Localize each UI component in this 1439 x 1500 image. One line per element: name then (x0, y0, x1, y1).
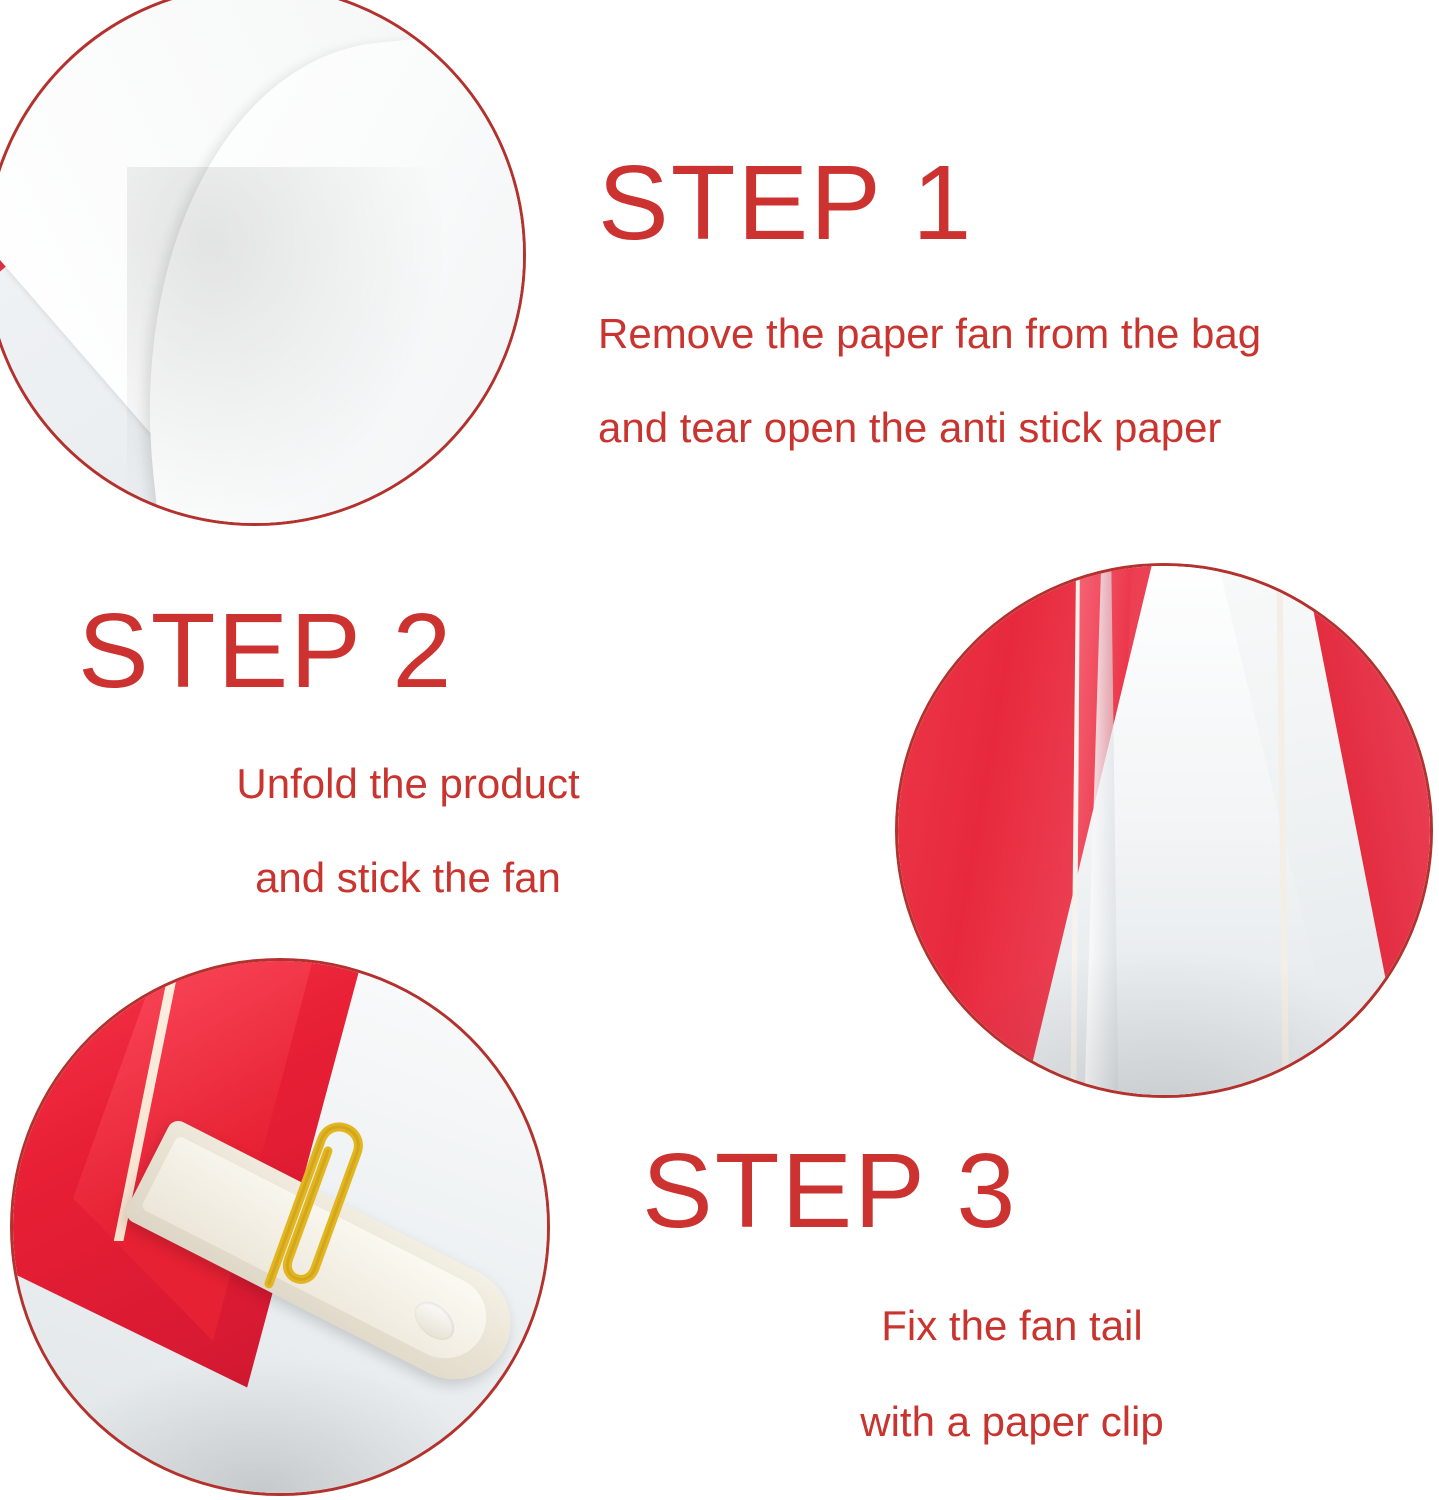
step-2-line-2: and stick the fan (78, 857, 738, 899)
step-2-text-block: STEP 2 Unfold the product and stick the … (78, 596, 738, 899)
step-3-photo-scene (13, 961, 547, 1493)
step-1-title: STEP 1 (598, 148, 1261, 259)
step-1-photo (0, 0, 526, 526)
instruction-sheet: STEP 1 Remove the paper fan from the bag… (0, 0, 1439, 1500)
step-2-photo-scene (898, 566, 1430, 1095)
step-1-photo-scene (0, 0, 523, 523)
step-2-photo (895, 563, 1433, 1098)
photo-shadow (898, 945, 1430, 1095)
step-3-line-2: with a paper clip (642, 1401, 1382, 1443)
step-3-line-1: Fix the fan tail (642, 1305, 1382, 1347)
step-2-line-1: Unfold the product (78, 763, 738, 805)
step-1-line-2: and tear open the anti stick paper (598, 407, 1261, 449)
step-3-text-block: STEP 3 Fix the fan tail with a paper cli… (642, 1136, 1382, 1443)
photo-shadow (73, 1353, 493, 1493)
liner-shadow (127, 167, 457, 523)
step-3-photo (10, 958, 550, 1496)
step-3-title: STEP 3 (642, 1136, 1382, 1247)
step-1-text-block: STEP 1 Remove the paper fan from the bag… (598, 148, 1261, 449)
step-2-title: STEP 2 (78, 596, 738, 707)
step-1-line-1: Remove the paper fan from the bag (598, 313, 1261, 355)
